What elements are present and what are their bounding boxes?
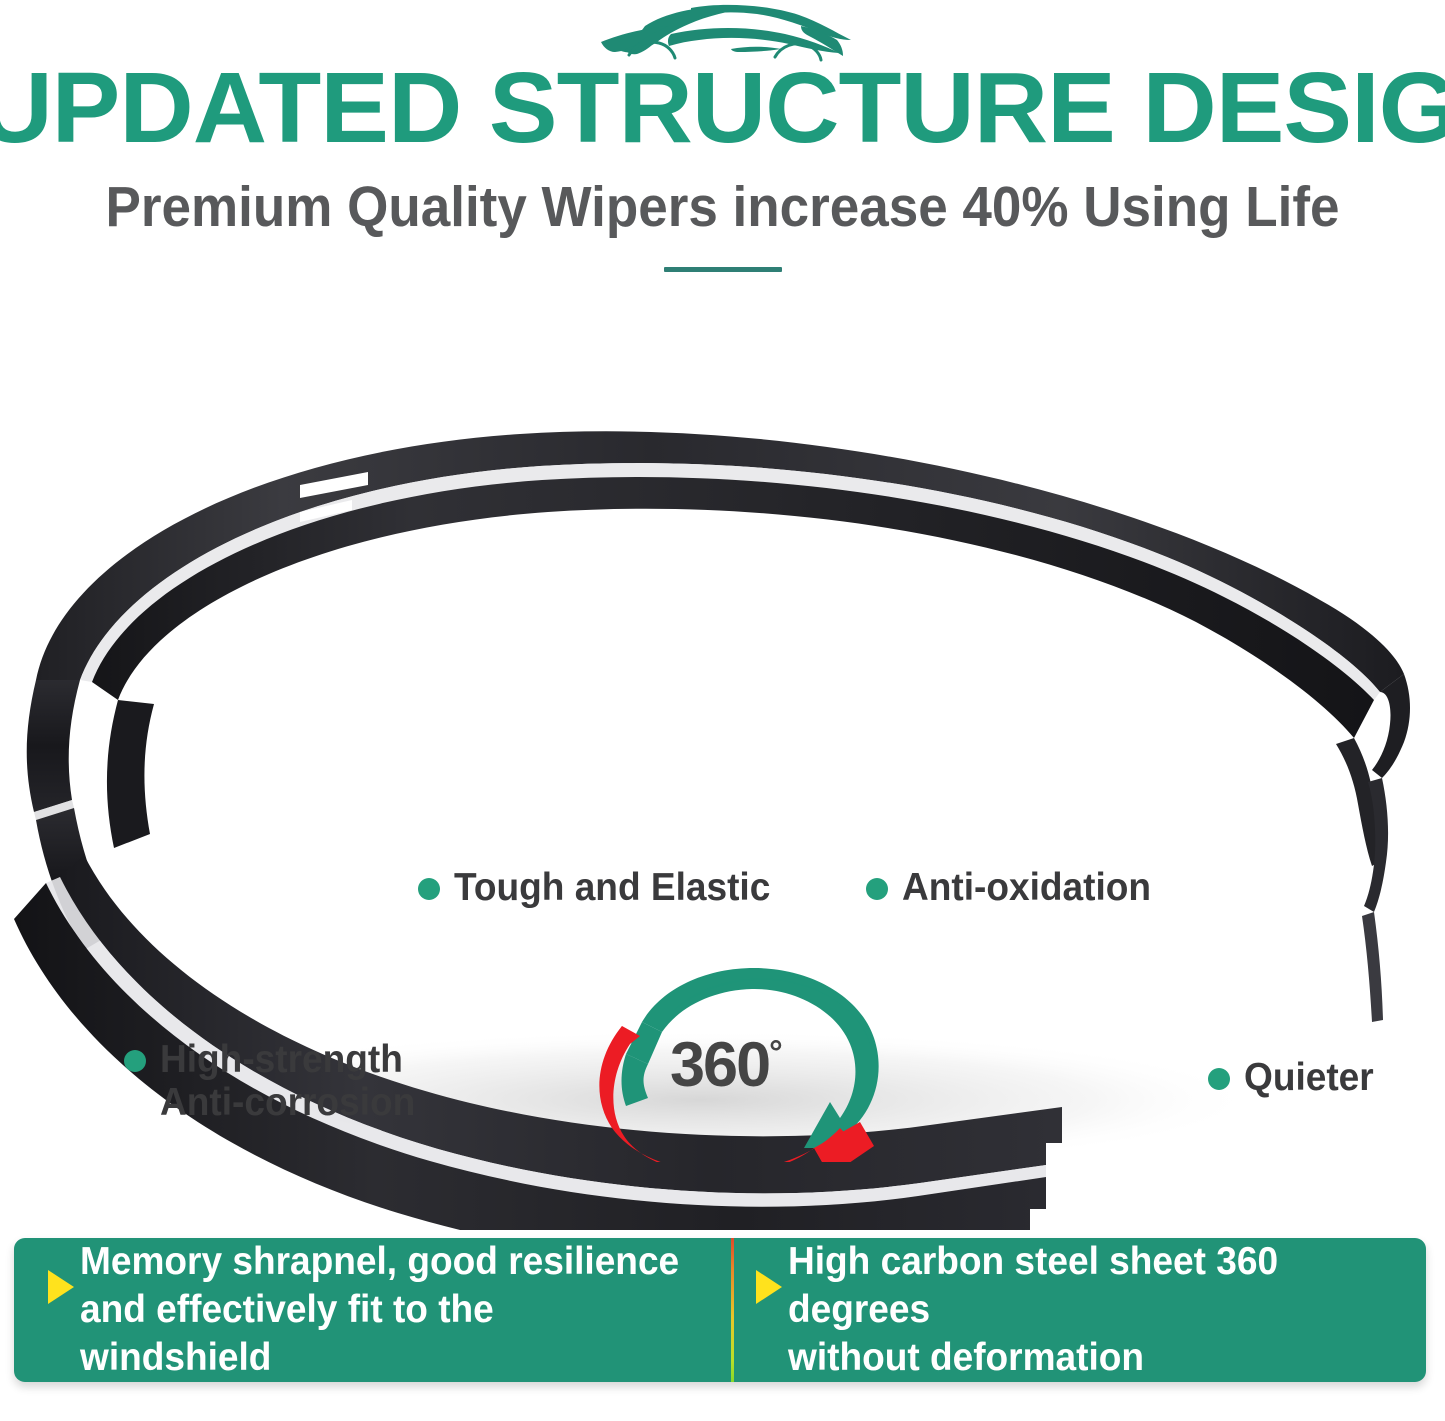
bottom-feature-banner: Memory shrapnel, good resilience and eff… (14, 1238, 1426, 1382)
feature-tough-and-elastic: Tough and Elastic (418, 866, 787, 909)
header-divider (664, 267, 782, 272)
banner-item-high-carbon-steel: High carbon steel sheet 360 degrees with… (714, 1238, 1426, 1382)
banner-item-text: High carbon steel sheet 360 degrees with… (788, 1238, 1394, 1382)
triangle-right-icon (48, 1270, 74, 1304)
feature-label: High-strength Anti-corrosion (160, 1038, 415, 1124)
feature-anti-oxidation: Anti-oxidation (866, 866, 1164, 909)
badge-360-degrees: 360° (578, 962, 918, 1162)
banner-item-memory-shrapnel: Memory shrapnel, good resilience and eff… (14, 1238, 714, 1382)
bullet-dot-icon (866, 878, 888, 900)
page-title: UPDATED STRUCTURE DESIGN (0, 58, 1445, 158)
header-section: UPDATED STRUCTURE DESIGN Premium Quality… (0, 0, 1445, 300)
banner-item-text: Memory shrapnel, good resilience and eff… (80, 1238, 682, 1382)
feature-label: Anti-oxidation (902, 866, 1151, 909)
bullet-dot-icon (124, 1050, 146, 1072)
feature-label: Tough and Elastic (454, 866, 770, 909)
badge-value: 360 (670, 1030, 769, 1100)
product-stage: Tough and Elastic Anti-oxidation High-st… (0, 300, 1445, 1230)
triangle-right-icon (756, 1270, 782, 1304)
bullet-dot-icon (1208, 1068, 1230, 1090)
page-subtitle: Premium Quality Wipers increase 40% Usin… (51, 176, 1395, 238)
bullet-dot-icon (418, 878, 440, 900)
badge-360-label: 360° (670, 1022, 850, 1097)
feature-quieter: Quieter (1208, 1056, 1381, 1099)
feature-high-strength-anti-corrosion: High-strength Anti-corrosion (124, 1038, 429, 1124)
degree-symbol: ° (769, 1034, 783, 1072)
feature-label: Quieter (1244, 1056, 1374, 1099)
